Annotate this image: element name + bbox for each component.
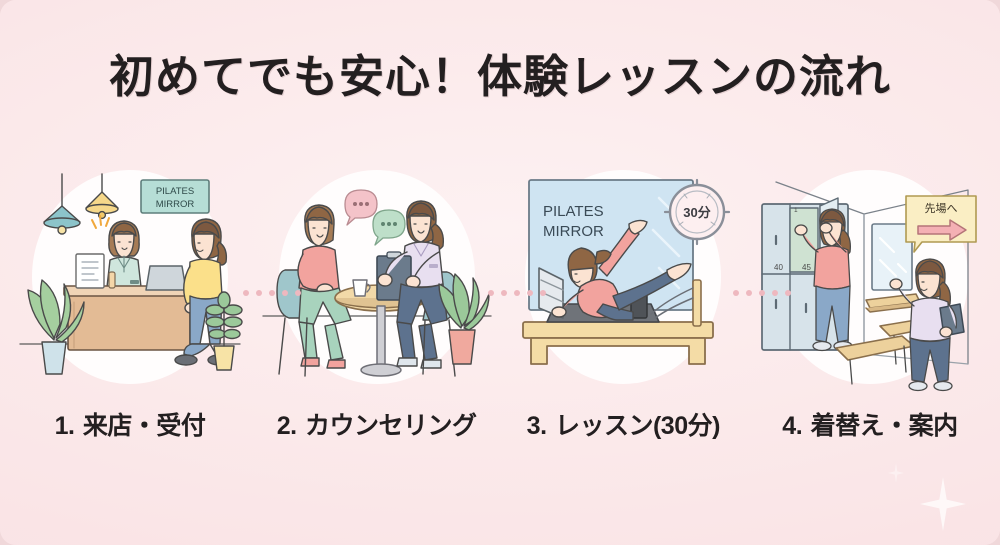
- reception-illustration: PILATES MIRROR: [14, 168, 246, 393]
- sign-line-2: MIRROR: [156, 199, 195, 210]
- callout-label: 先場へ: [924, 202, 957, 215]
- step-labels: 1. 来店・受付 2. カウンセリング 3. レッスン(30分) 4. 着替え・…: [0, 406, 1000, 442]
- sign-line-1: PILATES: [156, 186, 194, 197]
- step-number-3: 3.: [527, 412, 547, 440]
- poster-canvas: 初めてでも安心！体験レッスンの流れ: [0, 0, 1000, 545]
- mirror-line-1: PILATES: [543, 203, 604, 220]
- step-label-3: 3. レッスン(30分): [507, 406, 739, 442]
- lesson-scene: PILATES MIRROR 30分: [507, 168, 739, 393]
- step-connector: [733, 290, 791, 296]
- step-text-3: レッスン(30分): [555, 412, 720, 440]
- locker-number: 45: [802, 263, 811, 272]
- step-text-2: カウンセリング: [305, 412, 477, 440]
- step-label-2: 2. カウンセリング: [261, 406, 493, 442]
- timer-label: 30分: [684, 205, 711, 220]
- changing-room-scene: 1 2 40 45 46: [754, 168, 986, 393]
- step-label-1: 1. 来店・受付: [14, 406, 246, 442]
- mirror-line-2: MIRROR: [543, 223, 604, 240]
- step-connector: [488, 290, 546, 296]
- step-number-1: 1.: [55, 412, 75, 440]
- sparkle-icon: [888, 463, 904, 483]
- counseling-illustration: [261, 168, 493, 393]
- lesson-illustration: PILATES MIRROR 30分: [507, 168, 739, 393]
- title-container: 初めてでも安心！体験レッスンの流れ: [0, 40, 1000, 105]
- locker-number: 40: [774, 263, 783, 272]
- reception-scene: PILATES MIRROR: [14, 168, 246, 393]
- page-title: 初めてでも安心！体験レッスンの流れ: [109, 40, 891, 105]
- locker-number: 1: [794, 207, 798, 214]
- step-label-4: 4. 着替え・案内: [754, 406, 986, 442]
- step-connector: [243, 290, 301, 296]
- changing-room-illustration: 1 2 40 45 46: [754, 168, 986, 393]
- step-text-1: 来店・受付: [83, 412, 206, 440]
- sparkle-icon: [920, 477, 966, 531]
- step-number-4: 4.: [782, 412, 802, 440]
- step-text-4: 着替え・案内: [811, 412, 958, 440]
- step-number-2: 2.: [277, 412, 297, 440]
- speech-bubble-green: [373, 210, 405, 245]
- counseling-scene: [261, 168, 493, 393]
- scene-strip: PILATES MIRROR: [0, 168, 1000, 393]
- speech-bubble-pink: [345, 190, 377, 225]
